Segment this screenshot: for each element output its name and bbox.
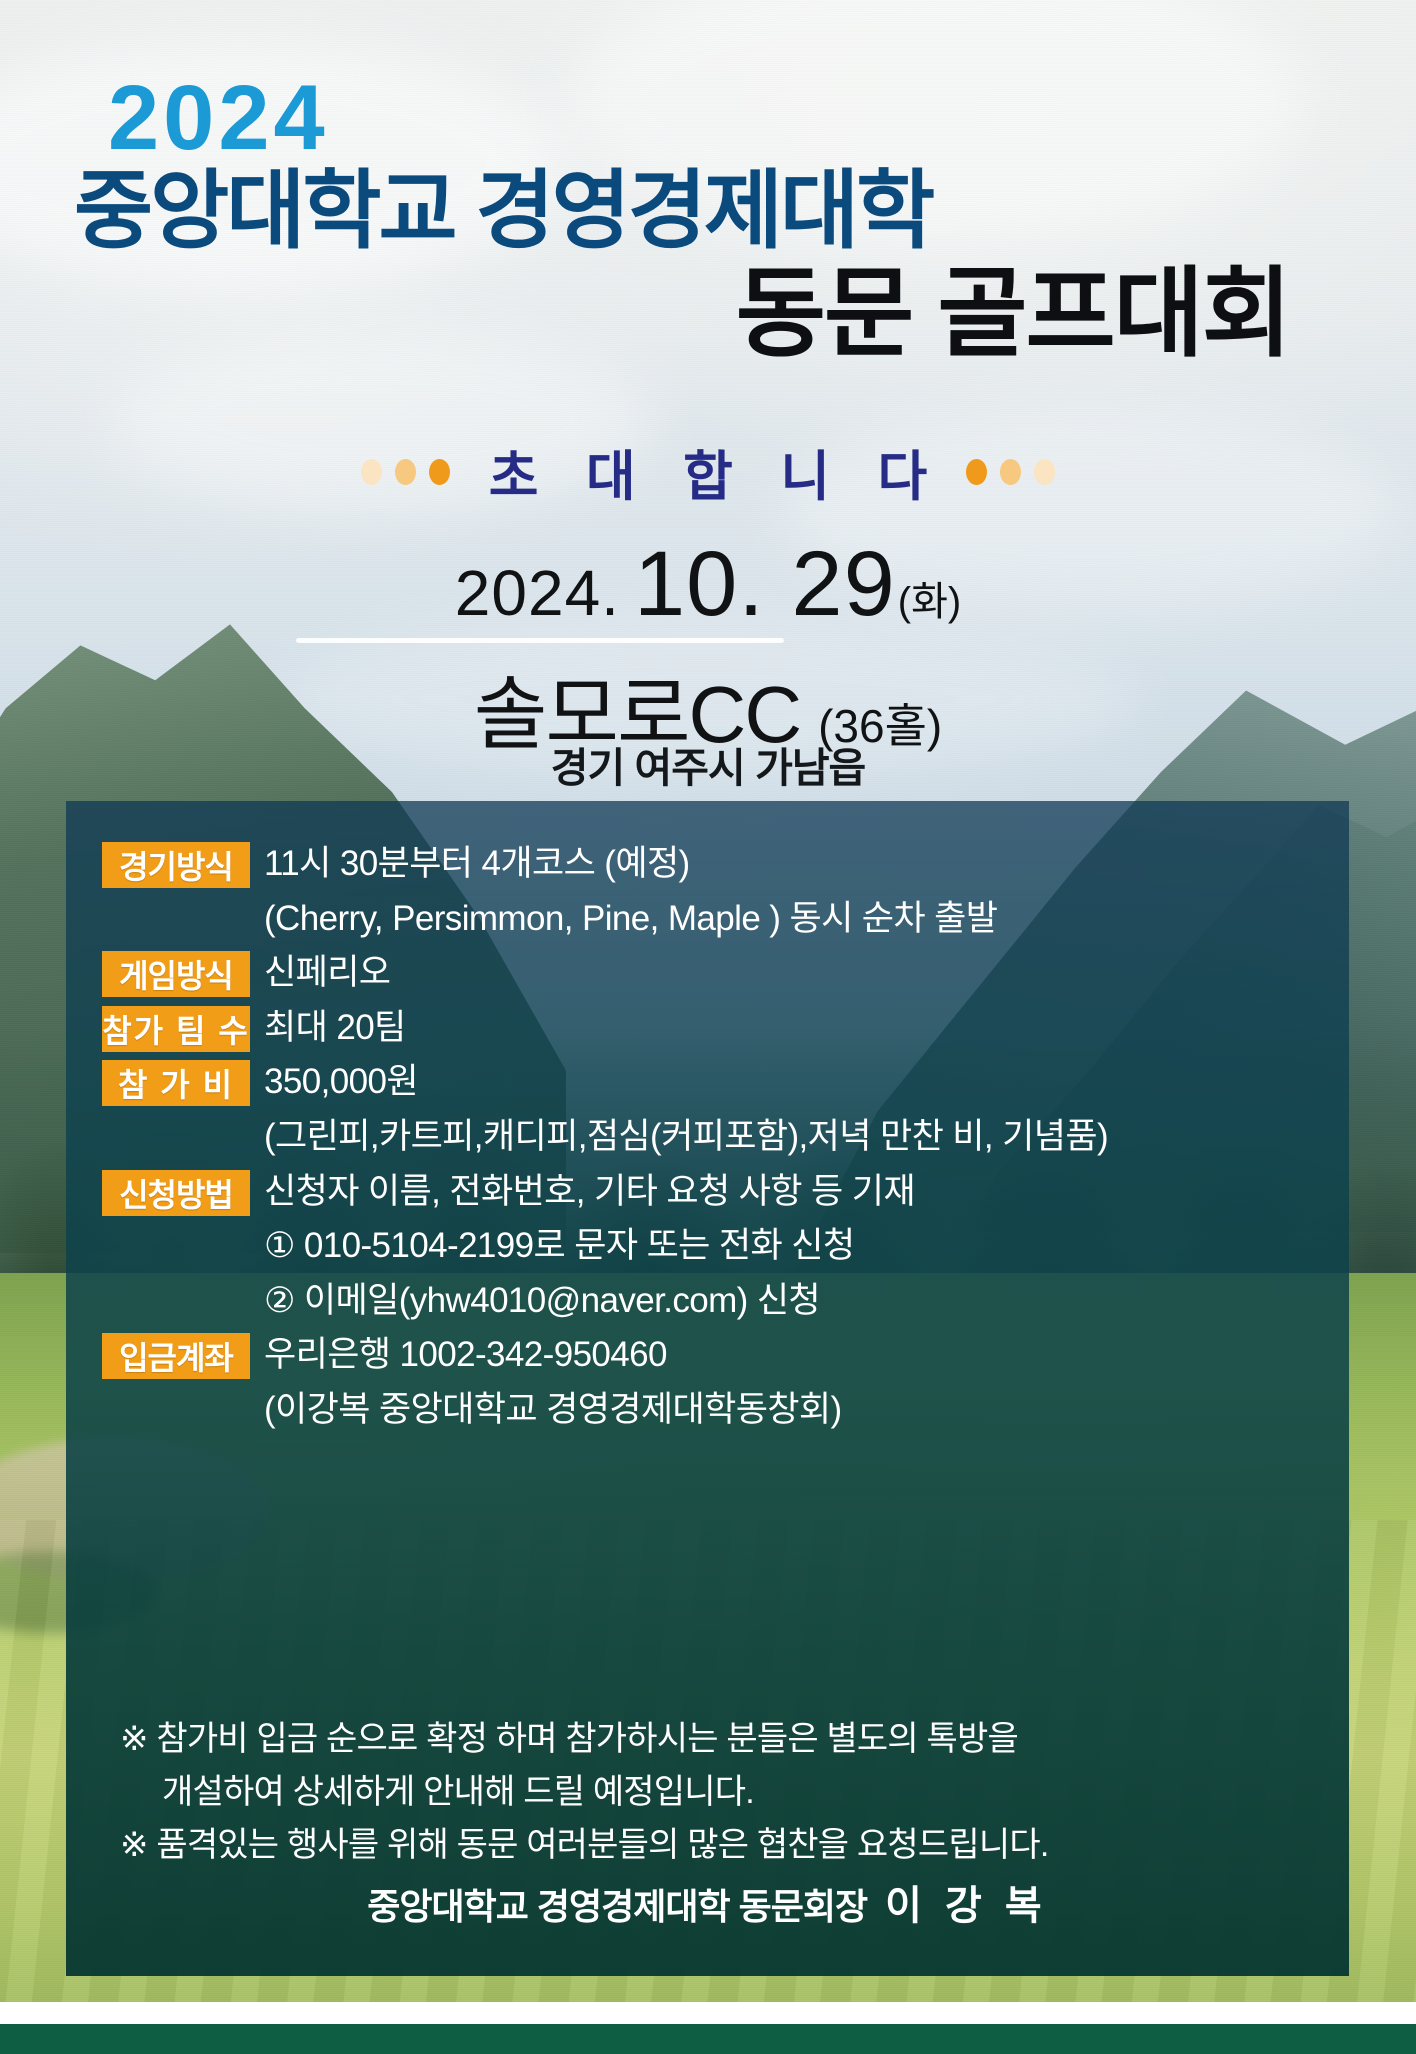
info-value-line: 11시 30분부터 4개코스 (예정) <box>264 837 1329 892</box>
venue-address: 경기 여주시 가남읍 <box>0 734 1416 794</box>
dots-right <box>966 459 1055 485</box>
divider <box>296 638 784 643</box>
event-date-weekday: (화) <box>898 569 961 627</box>
info-value: 350,000원 (그린피,카트피,캐디피,점심(커피포함),저녁 만찬 비, … <box>264 1055 1329 1164</box>
bank-account-line: 우리은행 1002-342-950460 <box>264 1328 1329 1383</box>
info-tag-team-count: 참가 팀 수 <box>102 1006 250 1052</box>
note-line: 개설하여 상세하게 안내해 드릴 예정입니다. <box>120 1766 1309 1819</box>
poster-title-line1: 중앙대학교 경영경제대학 <box>74 166 1342 257</box>
invitation-text: 초 대 합 니 다 <box>472 432 944 511</box>
event-date: 2024. 10. 29 (화) <box>0 532 1416 637</box>
signature-name: 이 강 복 <box>885 1884 1048 1928</box>
info-value-line: 최대 20팀 <box>264 1001 1329 1056</box>
event-date-month-day: 10. 29 <box>634 532 896 637</box>
info-row: 참 가 비 350,000원 (그린피,카트피,캐디피,점심(커피포함),저녁 … <box>102 1055 1329 1164</box>
info-value-line-email: ② 이메일(yhw4010@naver.com) 신청 <box>264 1274 1329 1329</box>
signature-org: 중앙대학교 경영경제대학 동문회장 <box>367 1886 867 1927</box>
info-row: 경기방식 11시 30분부터 4개코스 (예정) (Cherry, Persim… <box>102 837 1329 946</box>
info-value-line: 신페리오 <box>264 946 1329 1001</box>
event-date-year: 2024. <box>455 556 620 630</box>
info-tag-how-to-apply: 신청방법 <box>102 1170 250 1216</box>
info-tag-game-format: 게임방식 <box>102 951 250 997</box>
info-rows: 경기방식 11시 30분부터 4개코스 (예정) (Cherry, Persim… <box>102 837 1329 1438</box>
dot-icon <box>1034 459 1055 485</box>
info-value: 11시 30분부터 4개코스 (예정) (Cherry, Persimmon, … <box>264 837 1329 946</box>
bank-name: 우리은행 <box>264 1335 390 1374</box>
info-tag-bank-account: 입금계좌 <box>102 1333 250 1379</box>
info-tag-entry-fee: 참 가 비 <box>102 1060 250 1106</box>
info-tag-match-format: 경기방식 <box>102 842 250 888</box>
note-line: ※ 참가비 입금 순으로 확정 하며 참가하시는 분들은 별도의 톡방을 <box>120 1713 1309 1766</box>
info-row: 입금계좌 우리은행 1002-342-950460 (이강복 중앙대학교 경영경… <box>102 1328 1329 1437</box>
poster-title-line2: 동문 골프대회 <box>0 262 1290 366</box>
info-value-line: 신청자 이름, 전화번호, 기타 요청 사항 등 기재 <box>264 1165 1329 1220</box>
account-holder: (이강복 중앙대학교 경영경제대학동창회) <box>264 1383 1329 1438</box>
info-value: 우리은행 1002-342-950460 (이강복 중앙대학교 경영경제대학동창… <box>264 1328 1329 1437</box>
bottom-green-strip <box>0 2024 1416 2054</box>
signature: 중앙대학교 경영경제대학 동문회장이 강 복 <box>66 1873 1349 1931</box>
poster-year: 2024 <box>108 72 329 164</box>
info-value-line: 350,000원 <box>264 1055 1329 1110</box>
dot-icon <box>429 459 450 485</box>
info-panel: 경기방식 11시 30분부터 4개코스 (예정) (Cherry, Persim… <box>66 801 1349 1976</box>
dots-left <box>361 459 450 485</box>
info-row: 게임방식 신페리오 <box>102 946 1329 1001</box>
notes: ※ 참가비 입금 순으로 확정 하며 참가하시는 분들은 별도의 톡방을 개설하… <box>120 1713 1309 1872</box>
info-row: 신청방법 신청자 이름, 전화번호, 기타 요청 사항 등 기재 ① 010-5… <box>102 1165 1329 1329</box>
info-value: 최대 20팀 <box>264 1001 1329 1056</box>
info-value-line: (그린피,카트피,캐디피,점심(커피포함),저녁 만찬 비, 기념품) <box>264 1110 1329 1165</box>
dot-icon <box>395 459 416 485</box>
invitation-row: 초 대 합 니 다 <box>0 432 1416 511</box>
info-row: 참가 팀 수 최대 20팀 <box>102 1001 1329 1056</box>
dot-icon <box>361 459 382 485</box>
note-line: ※ 품격있는 행사를 위해 동문 여러분들의 많은 협찬을 요청드립니다. <box>120 1819 1309 1872</box>
info-value: 신청자 이름, 전화번호, 기타 요청 사항 등 기재 ① 010-5104-2… <box>264 1165 1329 1329</box>
info-value: 신페리오 <box>264 946 1329 1001</box>
info-value-line: (Cherry, Persimmon, Pine, Maple ) 동시 순차 … <box>264 892 1329 947</box>
info-value-line-phone: ① 010-5104-2199로 문자 또는 전화 신청 <box>264 1219 1329 1274</box>
dot-icon <box>966 459 987 485</box>
dot-icon <box>1000 459 1021 485</box>
golf-tournament-poster: 2024 중앙대학교 경영경제대학 동문 골프대회 초 대 합 니 다 2024… <box>0 0 1416 2054</box>
bottom-white-strip <box>0 2002 1416 2024</box>
bank-account-number: 1002-342-950460 <box>400 1335 667 1374</box>
